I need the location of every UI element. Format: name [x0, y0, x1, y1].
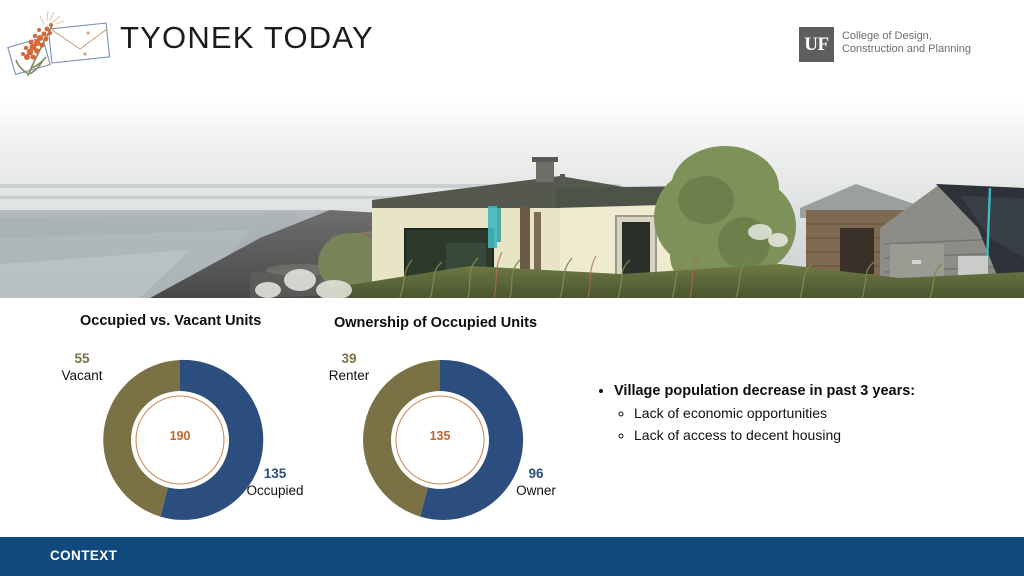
bullet-sub-2: Lack of access to decent housing	[634, 424, 1016, 446]
donut-label-owner-category: Owner	[500, 482, 572, 499]
slide: TYONEK TODAY UF College of Design, Const…	[0, 0, 1024, 576]
bullet-sub-1: Lack of economic opportunities	[634, 402, 1016, 424]
donut-label-occupied-value: 135	[234, 465, 316, 482]
donut-label-renter-value: 39	[314, 350, 384, 367]
uf-college-text: College of Design, Construction and Plan…	[842, 27, 971, 56]
fireweed-envelope-logo-icon	[6, 4, 114, 84]
brand-title: TYONEK TODAY	[120, 20, 374, 56]
donut-label-owner: 96 Owner	[500, 465, 572, 499]
donut-label-occupied-category: Occupied	[234, 482, 316, 499]
donut-label-renter: 39 Renter	[314, 350, 384, 384]
slide-header: TYONEK TODAY UF College of Design, Const…	[0, 0, 1024, 88]
donut-label-vacant-value: 55	[46, 350, 118, 367]
uf-mark-icon: UF	[799, 27, 834, 62]
donut-label-renter-category: Renter	[314, 367, 384, 384]
uf-mark-text: UF	[804, 34, 828, 56]
donut-label-occupied: 135 Occupied	[234, 465, 316, 499]
chart-title-ownership: Ownership of Occupied Units	[334, 315, 537, 331]
footer-section-label: CONTEXT	[50, 548, 117, 563]
donut-label-vacant: 55 Vacant	[46, 350, 118, 384]
uf-college-line1: College of Design,	[842, 30, 971, 43]
uf-logo: UF College of Design, Construction and P…	[799, 27, 971, 62]
bullet-main-text: Village population decrease in past 3 ye…	[614, 383, 915, 399]
donut-center-value-2: 135	[410, 429, 470, 443]
uf-college-line2: Construction and Planning	[842, 43, 971, 56]
bullet-main: Village population decrease in past 3 ye…	[614, 380, 1016, 446]
donut-center-value-1: 190	[150, 429, 210, 443]
donut-label-owner-value: 96	[500, 465, 572, 482]
slide-footer: CONTEXT	[0, 537, 1024, 576]
bullet-list: Village population decrease in past 3 ye…	[596, 380, 1016, 446]
donut-label-vacant-category: Vacant	[46, 367, 118, 384]
chart-title-occupied-vacant: Occupied vs. Vacant Units	[80, 313, 261, 329]
banner-photo	[0, 88, 1024, 298]
